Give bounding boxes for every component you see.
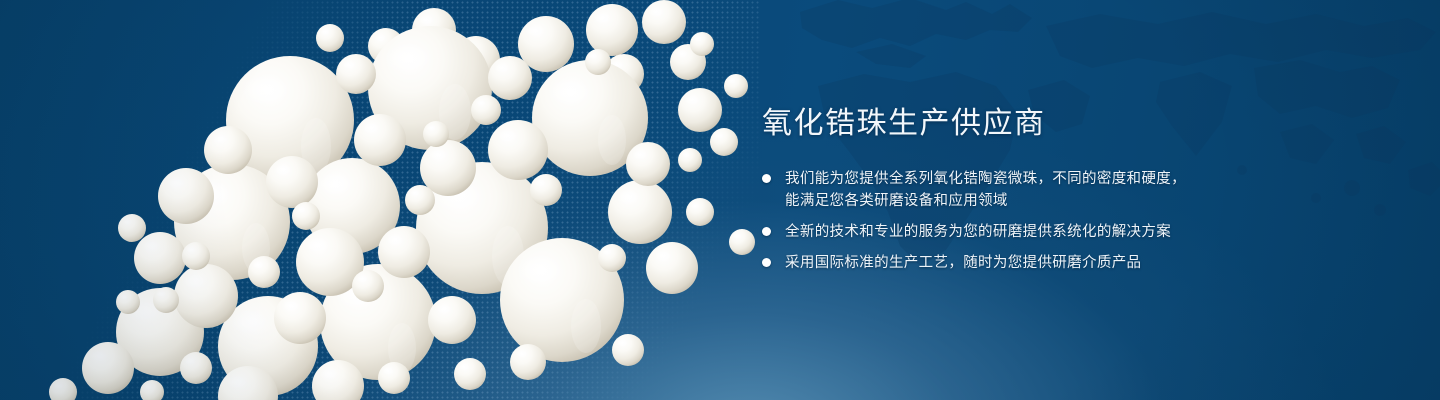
hero-banner: 氧化锆珠生产供应商 我们能为您提供全系列氧化锆陶瓷微珠，不同的密度和硬度， 能满… — [0, 0, 1440, 400]
vignette-overlay — [0, 0, 1440, 400]
